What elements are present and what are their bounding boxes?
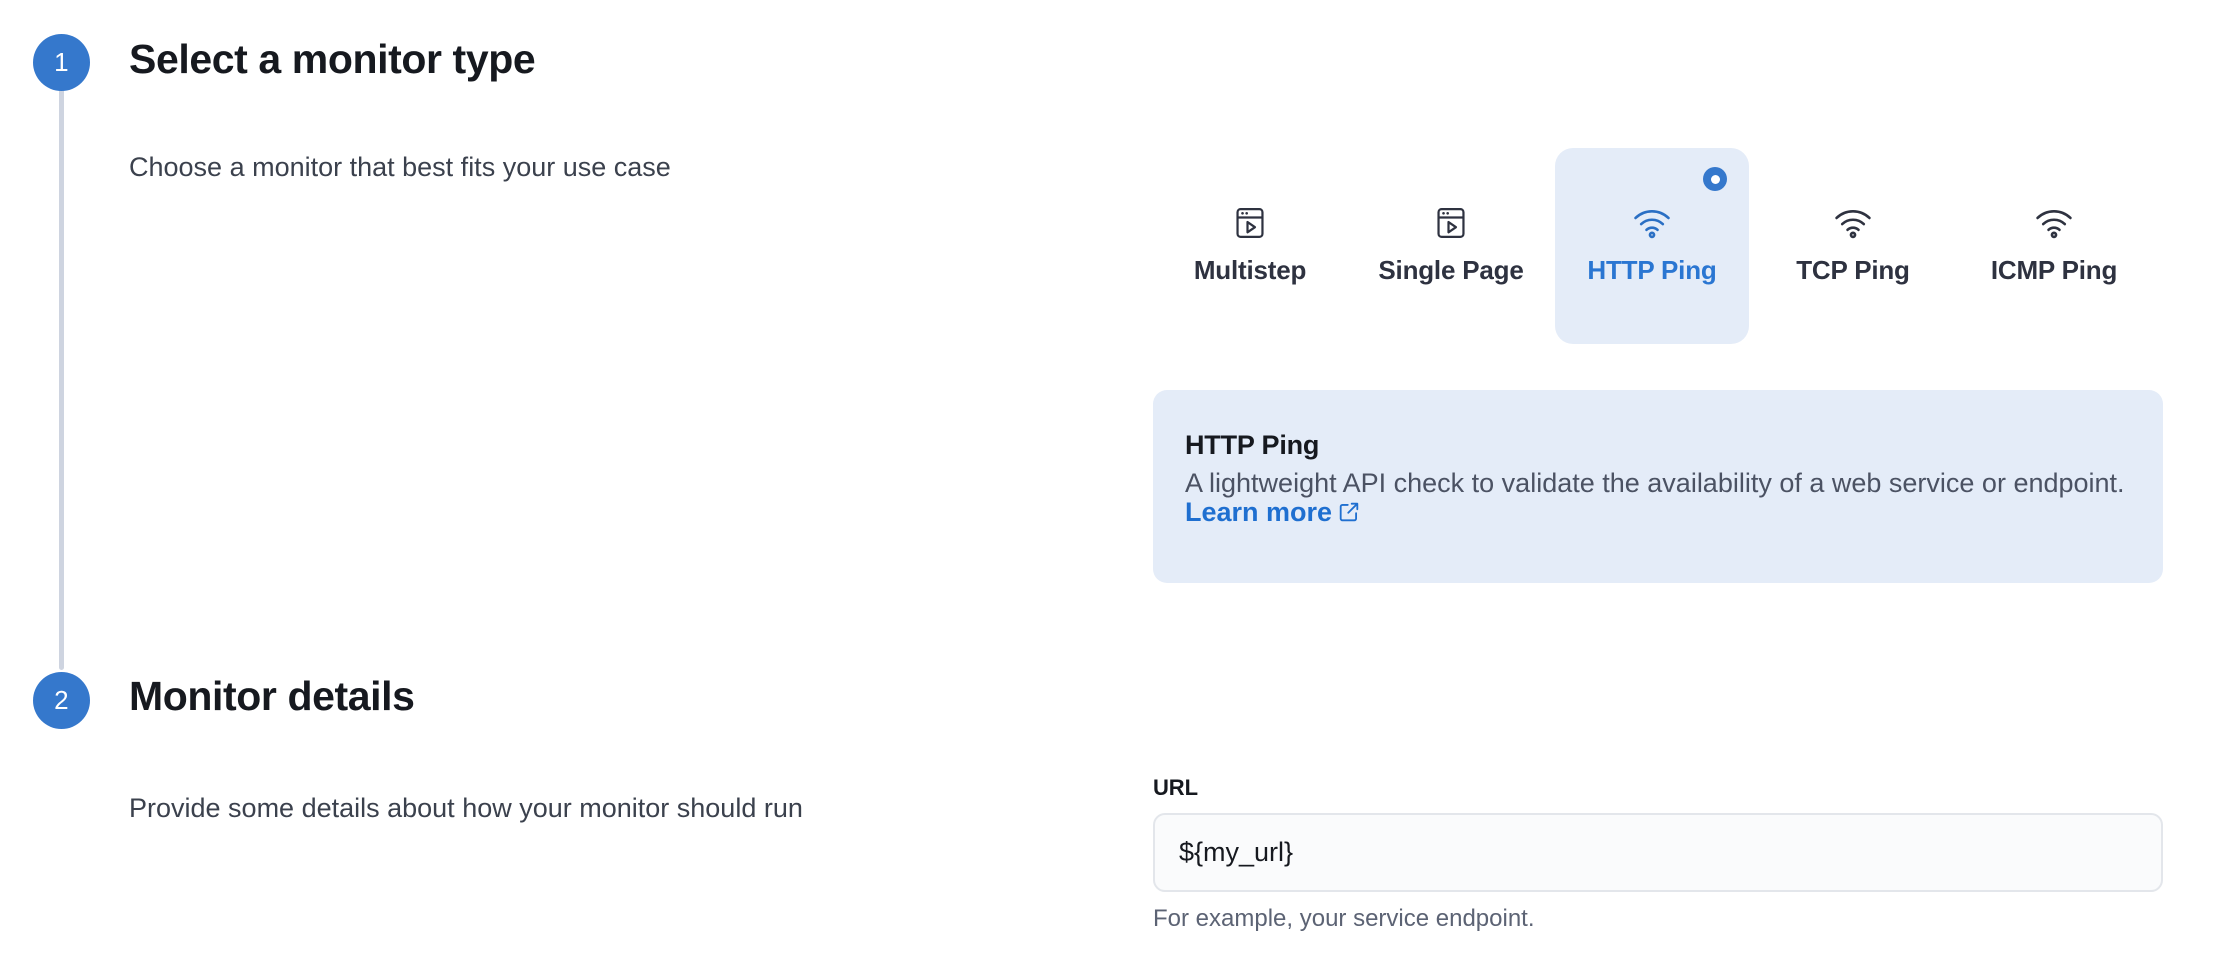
- step-title-2: Monitor details: [129, 673, 415, 720]
- monitor-create-wizard: 1 Select a monitor type Choose a monitor…: [0, 0, 2218, 958]
- monitor-type-label: TCP Ping: [1796, 255, 1909, 286]
- step-badge-2: 2: [33, 672, 90, 729]
- learn-more-link[interactable]: Learn more: [1185, 497, 1332, 527]
- monitor-type-card-single-page[interactable]: Single Page: [1354, 148, 1548, 344]
- info-panel-body: A lightweight API check to validate the …: [1185, 469, 2130, 529]
- wifi-icon: [1833, 204, 1873, 242]
- wifi-icon: [1632, 204, 1672, 242]
- stepper-connector-line: [59, 70, 64, 670]
- monitor-type-label: HTTP Ping: [1587, 255, 1716, 286]
- browser-play-icon: [1434, 204, 1468, 242]
- step-number-1: 1: [54, 47, 69, 78]
- step-title-1: Select a monitor type: [129, 36, 535, 83]
- info-panel-description: A lightweight API check to validate the …: [1185, 468, 2125, 498]
- monitor-type-info-panel: HTTP Ping A lightweight API check to val…: [1153, 390, 2163, 583]
- step-description-1: Choose a monitor that best fits your use…: [129, 152, 671, 183]
- step-number-2: 2: [54, 685, 69, 716]
- monitor-type-selector: Multistep Single Page: [1153, 148, 2193, 344]
- monitor-type-card-multistep[interactable]: Multistep: [1153, 148, 1347, 344]
- monitor-type-card-tcp-ping[interactable]: TCP Ping: [1756, 148, 1950, 344]
- url-input[interactable]: ${my_url}: [1153, 813, 2163, 892]
- monitor-type-card-icmp-ping[interactable]: ICMP Ping: [1957, 148, 2151, 344]
- step-description-2: Provide some details about how your moni…: [129, 793, 803, 824]
- step-badge-1: 1: [33, 34, 90, 91]
- browser-play-icon: [1233, 204, 1267, 242]
- monitor-type-card-http-ping[interactable]: HTTP Ping: [1555, 148, 1749, 344]
- wifi-icon: [2034, 204, 2074, 242]
- info-panel-title: HTTP Ping: [1185, 430, 2131, 461]
- url-field-hint: For example, your service endpoint.: [1153, 905, 2163, 933]
- external-link-icon[interactable]: [1338, 500, 1360, 529]
- monitor-type-label: Multistep: [1194, 255, 1306, 286]
- url-field-label: URL: [1153, 775, 2163, 801]
- radio-selected-icon[interactable]: [1703, 167, 1727, 191]
- url-field-group: URL ${my_url} For example, your service …: [1153, 775, 2163, 933]
- monitor-type-label: Single Page: [1378, 255, 1523, 286]
- monitor-type-label: ICMP Ping: [1991, 255, 2117, 286]
